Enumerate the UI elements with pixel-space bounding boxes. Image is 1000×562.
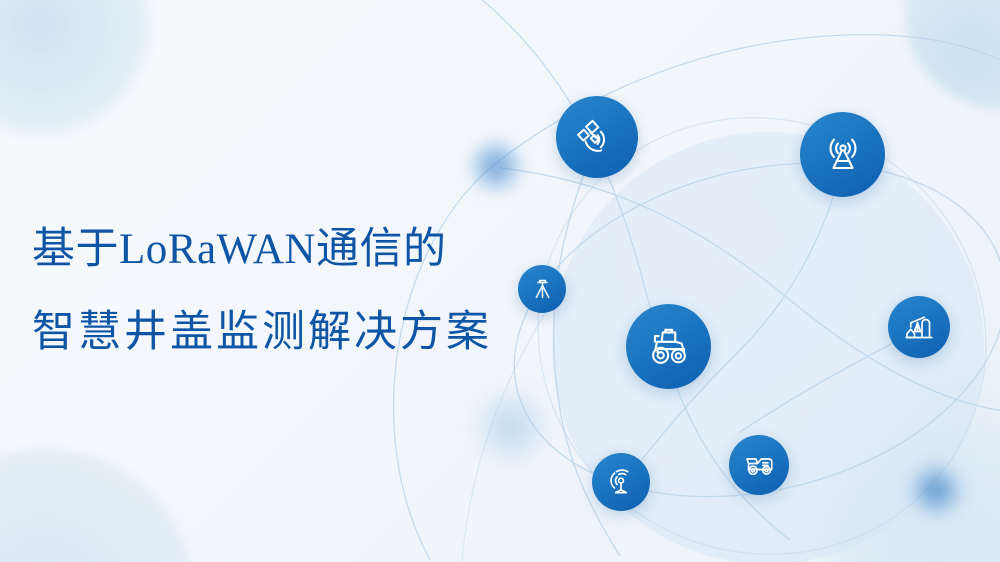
- decor-blob-bottom-right-soft: [790, 330, 1000, 562]
- node-survey-tripod[interactable]: [518, 265, 566, 313]
- satellite-icon: [574, 114, 620, 160]
- node-oil-pump-jack[interactable]: [888, 296, 950, 358]
- node-robotic-mower[interactable]: [729, 435, 789, 495]
- presentation-cover-slide: 基于LoRaWAN通信的 智慧井盖监测解决方案: [0, 0, 1000, 562]
- radio-tower-icon: [819, 131, 867, 179]
- accent-dot-left: [474, 390, 548, 464]
- title-line-2: 智慧井盖监测解决方案: [32, 311, 552, 354]
- decor-blob-bottom-left: [0, 448, 195, 562]
- decor-blob-top-right: [905, 0, 1000, 108]
- accent-dot-upper: [468, 138, 524, 194]
- node-radio-tower[interactable]: [800, 112, 885, 197]
- accent-dot-lower-right: [908, 462, 964, 518]
- survey-tripod-icon: [529, 276, 556, 303]
- node-tractor[interactable]: [626, 304, 711, 389]
- page-title: 基于LoRaWAN通信的 智慧井盖监测解决方案: [32, 228, 552, 354]
- title-line-1: 基于LoRaWAN通信的: [32, 228, 552, 271]
- tractor-icon: [644, 322, 694, 372]
- robotic-mower-icon: [741, 447, 777, 483]
- decor-blob-bottom-right: [828, 430, 1000, 562]
- node-satellite[interactable]: [556, 96, 638, 178]
- oil-pump-jack-icon: [901, 309, 937, 345]
- decor-blob-top-left: [0, 0, 150, 135]
- wireless-sensor-icon: [604, 465, 638, 499]
- node-wireless-sensor[interactable]: [592, 453, 650, 511]
